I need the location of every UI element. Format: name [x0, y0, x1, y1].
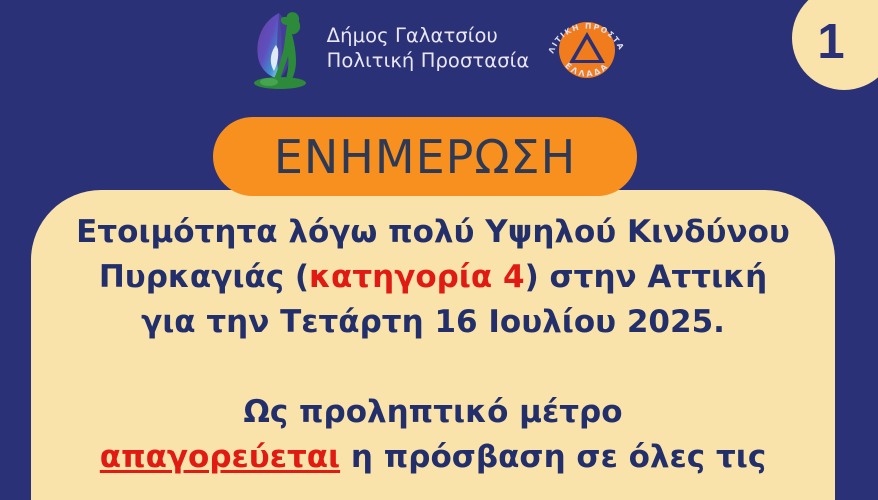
organisation-name: Δήμος Γαλατσίου Πολιτική Προστασία	[327, 24, 530, 75]
body-line-3: για την Τετάρτη 16 Ιουλίου 2025.	[31, 300, 835, 345]
announcement-body: Ετοιμότητα λόγω πολύ Υψηλού Κινδύνου Πυρ…	[31, 210, 835, 480]
title-banner: ΕΝΗΜΕΡΩΣΗ	[213, 117, 637, 196]
body-line-2-post: ) στην Αττική	[525, 259, 768, 295]
paragraph-readiness: Ετοιμότητα λόγω πολύ Υψηλού Κινδύνου Πυρ…	[31, 210, 835, 345]
title-label: ΕΝΗΜΕΡΩΣΗ	[274, 134, 576, 180]
municipal-emblem-icon	[249, 9, 311, 91]
body-line-1: Ετοιμότητα λόγω πολύ Υψηλού Κινδύνου	[31, 210, 835, 255]
poster-canvas: Δήμος Γαλατσίου Πολιτική Προστασία ΠΟΛΙΤ…	[0, 0, 878, 500]
paragraph-spacer	[31, 345, 835, 390]
slide-number-value: 1	[817, 18, 844, 67]
body-line-5: απαγορεύεται η πρόσβαση σε όλες τις	[31, 435, 835, 480]
paragraph-measure: Ως προληπτικό μέτρο απαγορεύεται η πρόσβ…	[31, 390, 835, 480]
civil-protection-logo-icon: ΠΟΛΙΤΙΚΗ ΠΡΟΣΤΑΣΙΑ ΕΛΛΑΔΑ	[545, 8, 629, 92]
body-line-5-rest: η πρόσβαση σε όλες τις	[340, 439, 766, 475]
body-line-2: Πυρκαγιάς (κατηγορία 4) στην Αττική	[31, 255, 835, 300]
poster-header: Δήμος Γαλατσίου Πολιτική Προστασία ΠΟΛΙΤ…	[0, 0, 878, 100]
body-line-2-pre: Πυρκαγιάς (	[99, 259, 309, 295]
prohibition-keyword: απαγορεύεται	[100, 439, 340, 475]
org-name-line1: Δήμος Γαλατσίου	[327, 24, 530, 49]
org-name-line2: Πολιτική Προστασία	[327, 49, 530, 74]
body-line-4: Ως προληπτικό μέτρο	[31, 390, 835, 435]
fire-risk-category: κατηγορία 4	[309, 259, 525, 295]
